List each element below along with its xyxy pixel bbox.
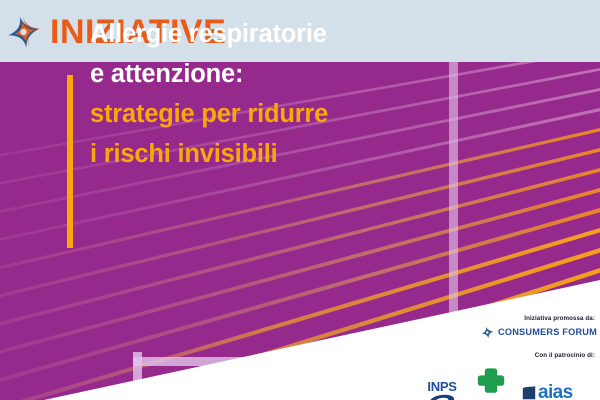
inps-ellipse-icon <box>429 394 455 400</box>
inps-wordmark: INPS <box>424 380 460 393</box>
consumers-forum-star-icon <box>480 325 495 340</box>
headline-line-3: strategie per ridurre <box>90 94 450 134</box>
patron-logo-aias[interactable]: aias Associazione Italiana Ambiente e Si… <box>522 383 596 400</box>
promoted-by-caption: Iniziativa promossa da: <box>418 316 595 323</box>
promoter-logo-consumers-forum[interactable]: CONSUMERS FORUM <box>418 325 597 340</box>
credits-block: Iniziativa promossa da: CONSUMERS FORUM … <box>418 316 598 400</box>
aias-wordmark: aias <box>538 383 573 400</box>
headline-line-4: i rischi invisibili <box>90 134 450 174</box>
patron-logo-inps[interactable]: INPS <box>424 380 460 400</box>
patron-logo-row: INPS FENAGIFAR <box>418 367 598 400</box>
patronage-caption: Con il patrocinio di: <box>418 353 595 360</box>
patron-logo-fenagifar[interactable]: FENAGIFAR <box>469 367 513 400</box>
bracket-bottom-rule <box>133 357 458 366</box>
green-cross-icon <box>476 367 506 394</box>
consumers-forum-wordmark: CONSUMERS FORUM <box>498 327 597 337</box>
aias-wave-icon <box>522 385 536 400</box>
four-point-star-icon <box>4 12 44 52</box>
headline-accent-bar <box>67 75 73 248</box>
headline-block: Allergie respiratorie e attenzione: stra… <box>90 14 450 174</box>
headline-line-2: e attenzione: <box>90 54 450 94</box>
poster-canvas: INIZIATIVE Allergie respiratorie e atten… <box>0 0 600 400</box>
headline-line-1: Allergie respiratorie <box>90 14 450 54</box>
